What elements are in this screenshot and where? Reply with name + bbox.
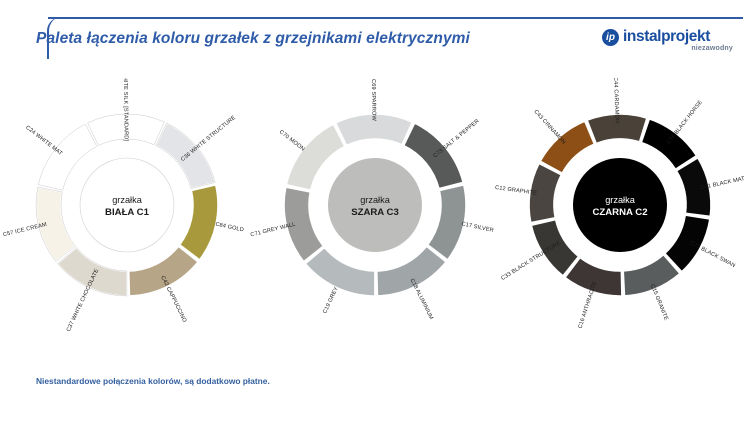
segment-label: C19 GREY — [322, 286, 340, 315]
wheel-center-disc — [328, 158, 422, 252]
color-wheel-grey: C73 SALT & PEPPERC17 SILVERC18 ALUMINIUM… — [250, 78, 500, 336]
wheel-segment[interactable]: C35 WHITE SILK [STANDARD] — [88, 78, 165, 145]
wheel-svg: C73 SALT & PEPPERC17 SILVERC18 ALUMINIUM… — [250, 78, 500, 336]
wheel-segment[interactable]: C73 SALT & PEPPER — [404, 118, 481, 188]
wheel-segment[interactable]: C18 ALUMINIUM — [377, 246, 446, 321]
page-title: Paleta łączenia koloru grzałek z grzejni… — [36, 30, 470, 48]
segment-label: C35 WHITE SILK [STANDARD] — [122, 78, 129, 141]
footer-note: Niestandardowe połączenia kolorów, są do… — [36, 376, 270, 386]
segment-label: C76 BLACK HORSE — [666, 99, 704, 145]
wheel-segment[interactable]: C84 GOLD — [180, 185, 245, 260]
color-wheels: C36 WHITE STRUCTUREC84 GOLDC42 CAPPUCCIN… — [0, 78, 750, 336]
wheel-svg: C36 WHITE STRUCTUREC84 GOLDC42 CAPPUCCIN… — [2, 78, 252, 336]
wheel-segment[interactable]: C43 CINNAMON — [532, 109, 594, 173]
header: Paleta łączenia koloru grzałek z grzejni… — [0, 0, 750, 76]
wheel-segment[interactable]: C33 BLACK STRUCTURE — [500, 220, 578, 282]
segment-arc[interactable] — [428, 185, 466, 260]
segment-label: C17 SILVER — [461, 221, 494, 234]
segment-label: C18 ALUMINIUM — [409, 278, 434, 321]
segment-label: C73 SALT & PEPPER — [432, 118, 480, 159]
slide: Paleta łączenia koloru grzałek z grzejni… — [0, 0, 750, 421]
segment-label: C84 GOLD — [215, 222, 244, 234]
segment-label: C24 WHITE MAT — [24, 125, 63, 157]
wheel-segment[interactable]: C24 WHITE MAT — [24, 124, 97, 190]
wheel-segment[interactable]: C57 ICE CREAM — [3, 187, 76, 262]
segment-arc[interactable] — [180, 185, 218, 260]
wheel-segment[interactable]: C37 WHITE CHOCOLATE — [57, 247, 127, 332]
logo-tagline: niezawodny — [691, 45, 733, 52]
wheel-svg: C76 BLACK HORSEC31 BLACK MATC75 BLACK SW… — [495, 78, 745, 336]
wheel-segment[interactable]: C31 BLACK MAT — [676, 158, 745, 217]
color-wheel-white: C36 WHITE STRUCTUREC84 GOLDC42 CAPPUCCIN… — [2, 78, 252, 336]
wheel-segment[interactable]: C69 SPARROW — [336, 79, 413, 145]
wheel-segment[interactable]: C76 BLACK HORSE — [641, 99, 704, 169]
wheel-segment[interactable]: C42 CAPPUCCINO — [129, 246, 198, 324]
footer: Niestandardowe połączenia kolorów, są do… — [0, 359, 750, 421]
wheel-segment[interactable]: C19 GREY — [305, 247, 375, 314]
color-wheel-black: C76 BLACK HORSEC31 BLACK MATC75 BLACK SW… — [495, 78, 745, 336]
wheel-center-disc — [80, 158, 174, 252]
wheel-segment[interactable]: C70 MOON — [278, 124, 345, 190]
wheel-segment[interactable]: C15 GRANITE — [623, 255, 680, 322]
wheel-segment[interactable]: C71 GREY WALL — [250, 187, 323, 262]
segment-label: C43 CINNAMON — [532, 109, 566, 146]
wheel-segment[interactable]: C17 SILVER — [428, 185, 495, 260]
wheel-segment[interactable]: C36 WHITE STRUCTURE — [156, 115, 237, 189]
segment-arc[interactable] — [377, 246, 446, 296]
wheel-segment[interactable]: C44 CARDAMON — [587, 78, 647, 143]
segment-label: C15 GRANITE — [649, 284, 669, 322]
wheel-segment[interactable]: C75 BLACK SWAN — [665, 215, 736, 272]
wheel-segment[interactable]: C16 ANTHRACITE — [565, 258, 622, 330]
logo-mark-icon: ip — [602, 29, 619, 46]
segment-label: C69 SPARROW — [370, 79, 377, 122]
segment-arc[interactable] — [305, 247, 375, 296]
segment-label: C70 MOON — [278, 129, 306, 152]
brand-logo: ip instalprojekt niezawodny — [602, 28, 734, 62]
wheel-segment[interactable]: C12 GRAPHITE — [495, 163, 561, 222]
segment-arc[interactable] — [129, 246, 198, 296]
logo-wordmark: instalprojekt — [623, 28, 710, 46]
wheel-center-disc — [573, 158, 667, 252]
header-rule — [48, 17, 743, 19]
